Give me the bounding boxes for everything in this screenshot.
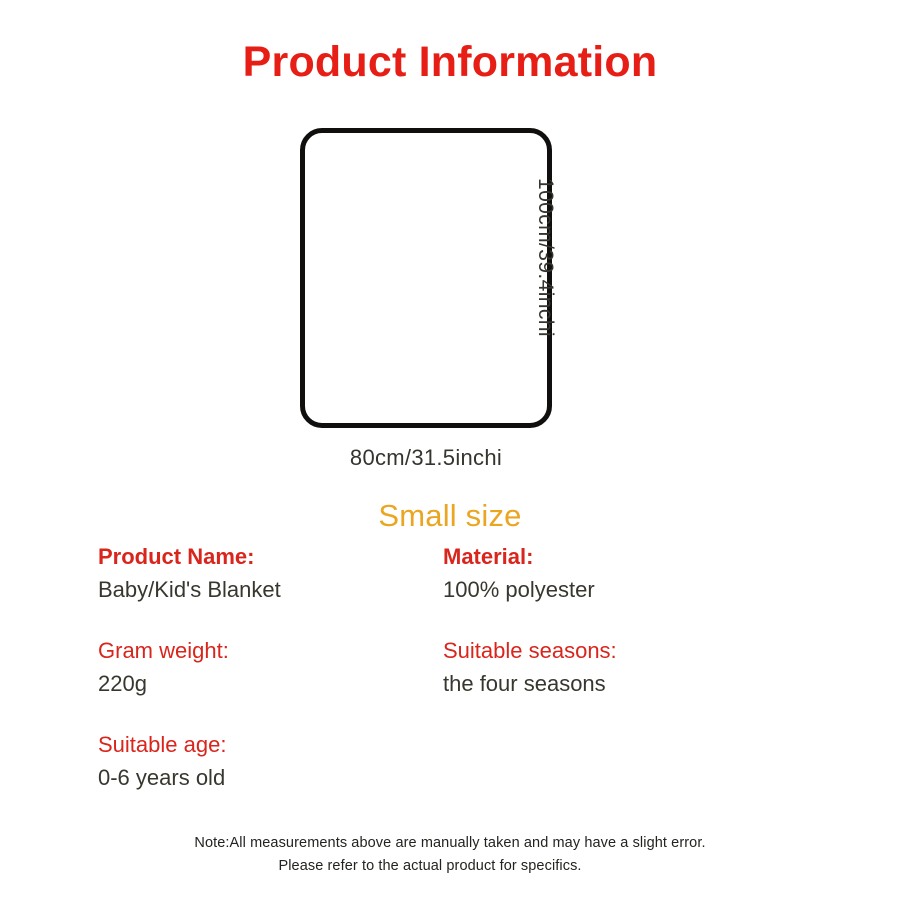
spec-value: the four seasons: [443, 667, 617, 701]
spec-row: Gram weight: 220g Suitable seasons: the …: [98, 635, 818, 729]
measurement-note-line-2: Please refer to the actual product for s…: [0, 855, 900, 878]
spec-item-product-name: Product Name: Baby/Kid's Blanket: [98, 541, 281, 607]
spec-item-gram-weight: Gram weight: 220g: [98, 635, 229, 701]
specification-list: Product Name: Baby/Kid's Blanket Materia…: [98, 541, 818, 823]
spec-item-suitable-seasons: Suitable seasons: the four seasons: [443, 635, 617, 701]
spec-label: Gram weight:: [98, 635, 229, 667]
measurement-note: Note:All measurements above are manually…: [0, 832, 900, 878]
height-dimension-label: 100cm/39.4inchi: [532, 178, 558, 337]
spec-value: 100% polyester: [443, 573, 595, 607]
spec-row: Product Name: Baby/Kid's Blanket Materia…: [98, 541, 818, 635]
blanket-outline-shape: [300, 128, 552, 428]
spec-item-suitable-age: Suitable age: 0-6 years old: [98, 729, 226, 795]
width-dimension-label: 80cm/31.5inchi: [300, 445, 552, 471]
page-title: Product Information: [0, 38, 900, 87]
product-information-page: Product Information 100cm/39.4inchi 80cm…: [0, 0, 900, 900]
spec-value: Baby/Kid's Blanket: [98, 573, 281, 607]
spec-label: Product Name:: [98, 541, 281, 573]
spec-label: Material:: [443, 541, 595, 573]
size-heading: Small size: [0, 498, 900, 534]
spec-row: Suitable age: 0-6 years old: [98, 729, 818, 823]
spec-item-material: Material: 100% polyester: [443, 541, 595, 607]
spec-value: 220g: [98, 667, 229, 701]
spec-label: Suitable age:: [98, 729, 226, 761]
spec-label: Suitable seasons:: [443, 635, 617, 667]
spec-value: 0-6 years old: [98, 761, 226, 795]
measurement-note-line-1: Note:All measurements above are manually…: [0, 832, 900, 855]
